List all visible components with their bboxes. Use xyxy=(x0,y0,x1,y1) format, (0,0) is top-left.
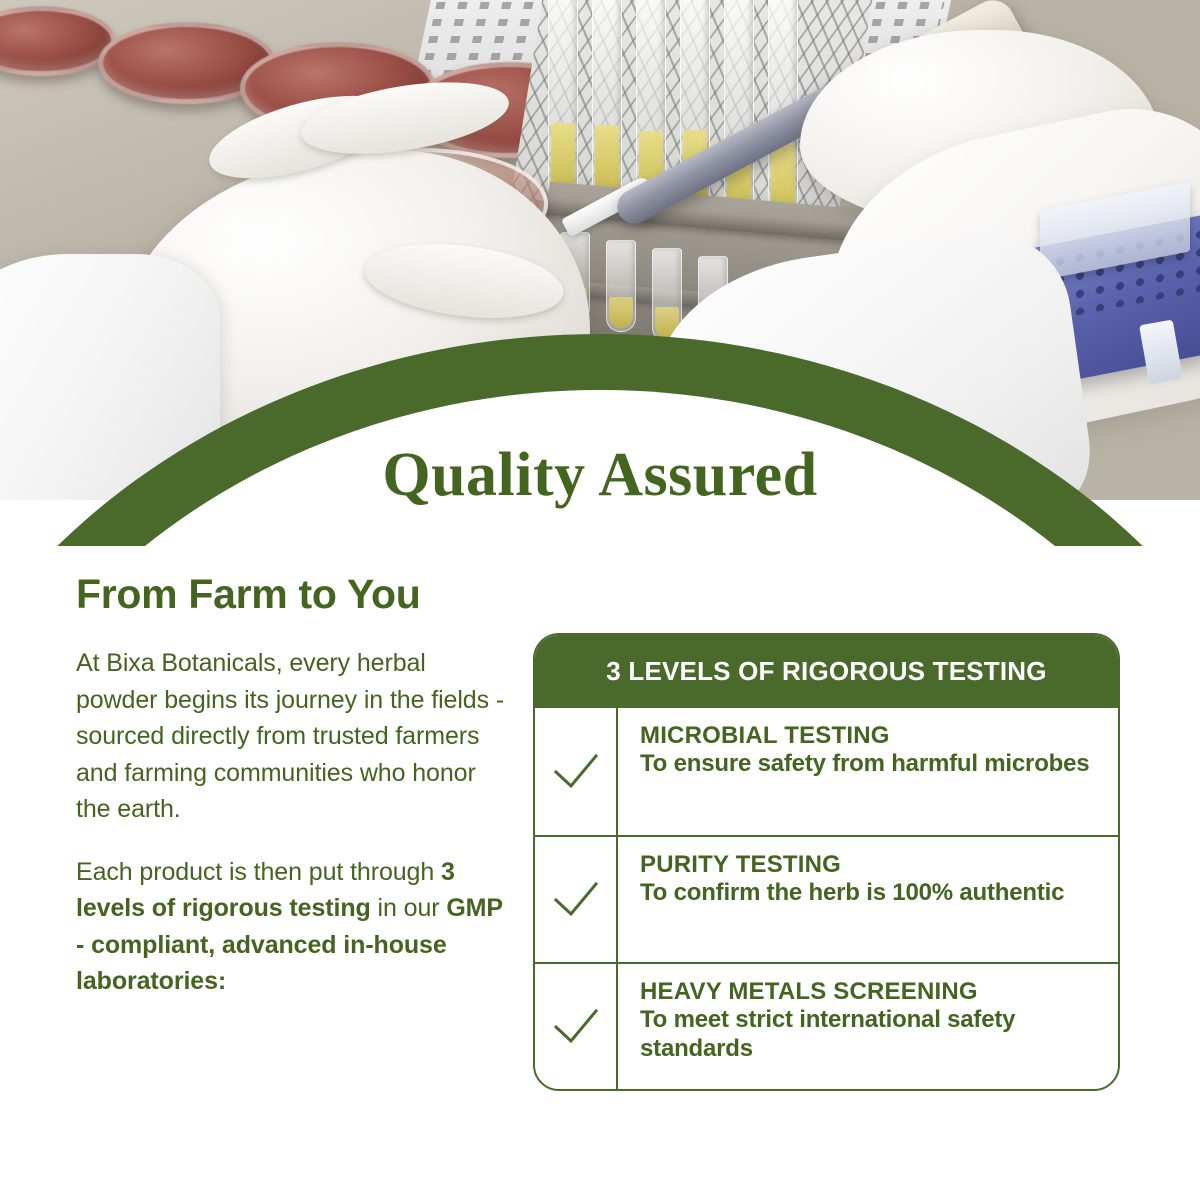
row-title: HEAVY METALS SCREENING xyxy=(640,978,1100,1006)
test-tube-icon xyxy=(548,0,578,198)
check-icon xyxy=(552,751,600,793)
row-text: MICROBIAL TESTING To ensure safety from … xyxy=(618,708,1107,835)
check-cell xyxy=(535,964,618,1089)
left-content-column: From Farm to You At Bixa Botanicals, eve… xyxy=(76,572,506,1026)
hero-photo: J-SIL BOTTOM xyxy=(0,0,1200,500)
card-rows: MICROBIAL TESTING To ensure safety from … xyxy=(535,708,1118,1089)
row-text: HEAVY METALS SCREENING To meet strict in… xyxy=(618,964,1118,1089)
section-heading: From Farm to You xyxy=(76,572,506,617)
row-desc: To meet strict international safety stan… xyxy=(640,1006,1100,1064)
row-title: MICROBIAL TESTING xyxy=(640,722,1089,750)
table-row: PURITY TESTING To confirm the herb is 10… xyxy=(535,835,1118,962)
page-title: Quality Assured xyxy=(0,440,1200,511)
paragraph-origin: At Bixa Botanicals, every herbal powder … xyxy=(76,645,506,828)
check-icon xyxy=(552,1006,600,1048)
test-tube-icon xyxy=(592,0,622,202)
check-icon xyxy=(552,879,600,921)
check-cell xyxy=(535,837,618,962)
test-tube-icon xyxy=(724,0,754,222)
card-header: 3 LEVELS OF RIGOROUS TESTING xyxy=(535,635,1118,708)
table-row: MICROBIAL TESTING To ensure safety from … xyxy=(535,708,1118,835)
row-desc: To confirm the herb is 100% authentic xyxy=(640,879,1064,908)
check-cell xyxy=(535,708,618,835)
row-desc: To ensure safety from harmful microbes xyxy=(640,750,1089,779)
test-tube-icon xyxy=(606,240,636,332)
testing-levels-card: 3 LEVELS OF RIGOROUS TESTING MICROBIAL T… xyxy=(533,633,1120,1091)
table-row: HEAVY METALS SCREENING To meet strict in… xyxy=(535,962,1118,1089)
paragraph-testing: Each product is then put through 3 level… xyxy=(76,854,506,1000)
row-title: PURITY TESTING xyxy=(640,851,1064,879)
row-text: PURITY TESTING To confirm the herb is 10… xyxy=(618,837,1082,962)
lab-photo-composition: J-SIL BOTTOM xyxy=(0,0,1200,500)
